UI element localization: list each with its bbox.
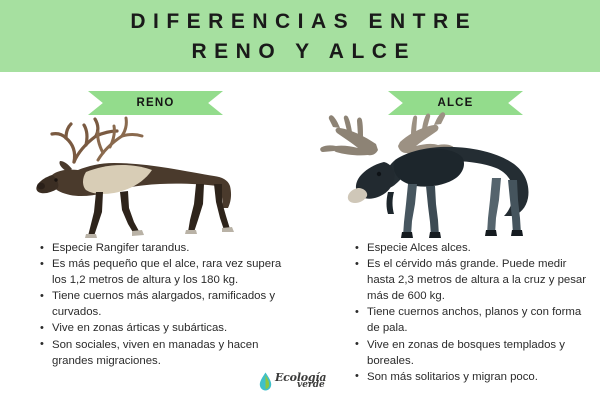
banner-alce: ALCE — [388, 91, 523, 115]
logo-wordmark: Ecología verde — [275, 372, 326, 390]
logo-word-bottom: verde — [297, 381, 326, 390]
moose-antlers-icon — [320, 112, 454, 155]
comparison-column-alce: ALCE — [300, 72, 600, 400]
leaf-drop-icon — [259, 372, 272, 391]
list-item: Especie Alces alces. — [355, 240, 593, 256]
list-item: Tiene cuernos anchos, planos y con forma… — [355, 304, 593, 336]
moose-body-icon — [348, 147, 529, 216]
facts-list-alce: Especie Alces alces. Es el cérvido más g… — [355, 240, 593, 385]
list-item: Es el cérvido más grande. Puede medir ha… — [355, 256, 593, 304]
list-item: Son sociales, viven en manadas y hacen g… — [40, 337, 290, 369]
reindeer-hooves-icon — [85, 227, 234, 238]
page-title-line-1: DIFERENCIAS ENTRE — [123, 7, 477, 37]
banner-reno: RENO — [88, 91, 223, 115]
list-item: Vive en zonas árticas y subárticas. — [40, 320, 290, 336]
moose-illustration — [300, 100, 600, 240]
reindeer-antlers-icon — [52, 118, 142, 162]
list-item: Es más pequeño que el alce, rara vez sup… — [40, 256, 290, 288]
page-header: DIFERENCIAS ENTRE RENO Y ALCE — [0, 0, 600, 72]
page-title-line-2: RENO Y ALCE — [184, 37, 416, 67]
ecologia-verde-logo: Ecología verde — [259, 369, 349, 393]
reindeer-legs-icon — [88, 184, 230, 236]
moose-hooves-icon — [401, 230, 523, 238]
list-item: Vive en zonas de bosques templados y bor… — [355, 337, 593, 369]
comparison-column-reno: RENO — [0, 72, 300, 400]
reindeer-body-icon — [36, 161, 231, 208]
banner-label-reno: RENO — [136, 97, 174, 109]
reindeer-illustration — [0, 100, 300, 240]
list-item: Son más solitarios y migran poco. — [355, 369, 593, 385]
banner-label-alce: ALCE — [437, 97, 473, 109]
list-item: Tiene cuernos más alargados, ramificados… — [40, 288, 290, 320]
facts-list-reno: Especie Rangifer tarandus. Es más pequeñ… — [40, 240, 290, 369]
list-item: Especie Rangifer tarandus. — [40, 240, 290, 256]
moose-legs-icon — [403, 178, 521, 236]
